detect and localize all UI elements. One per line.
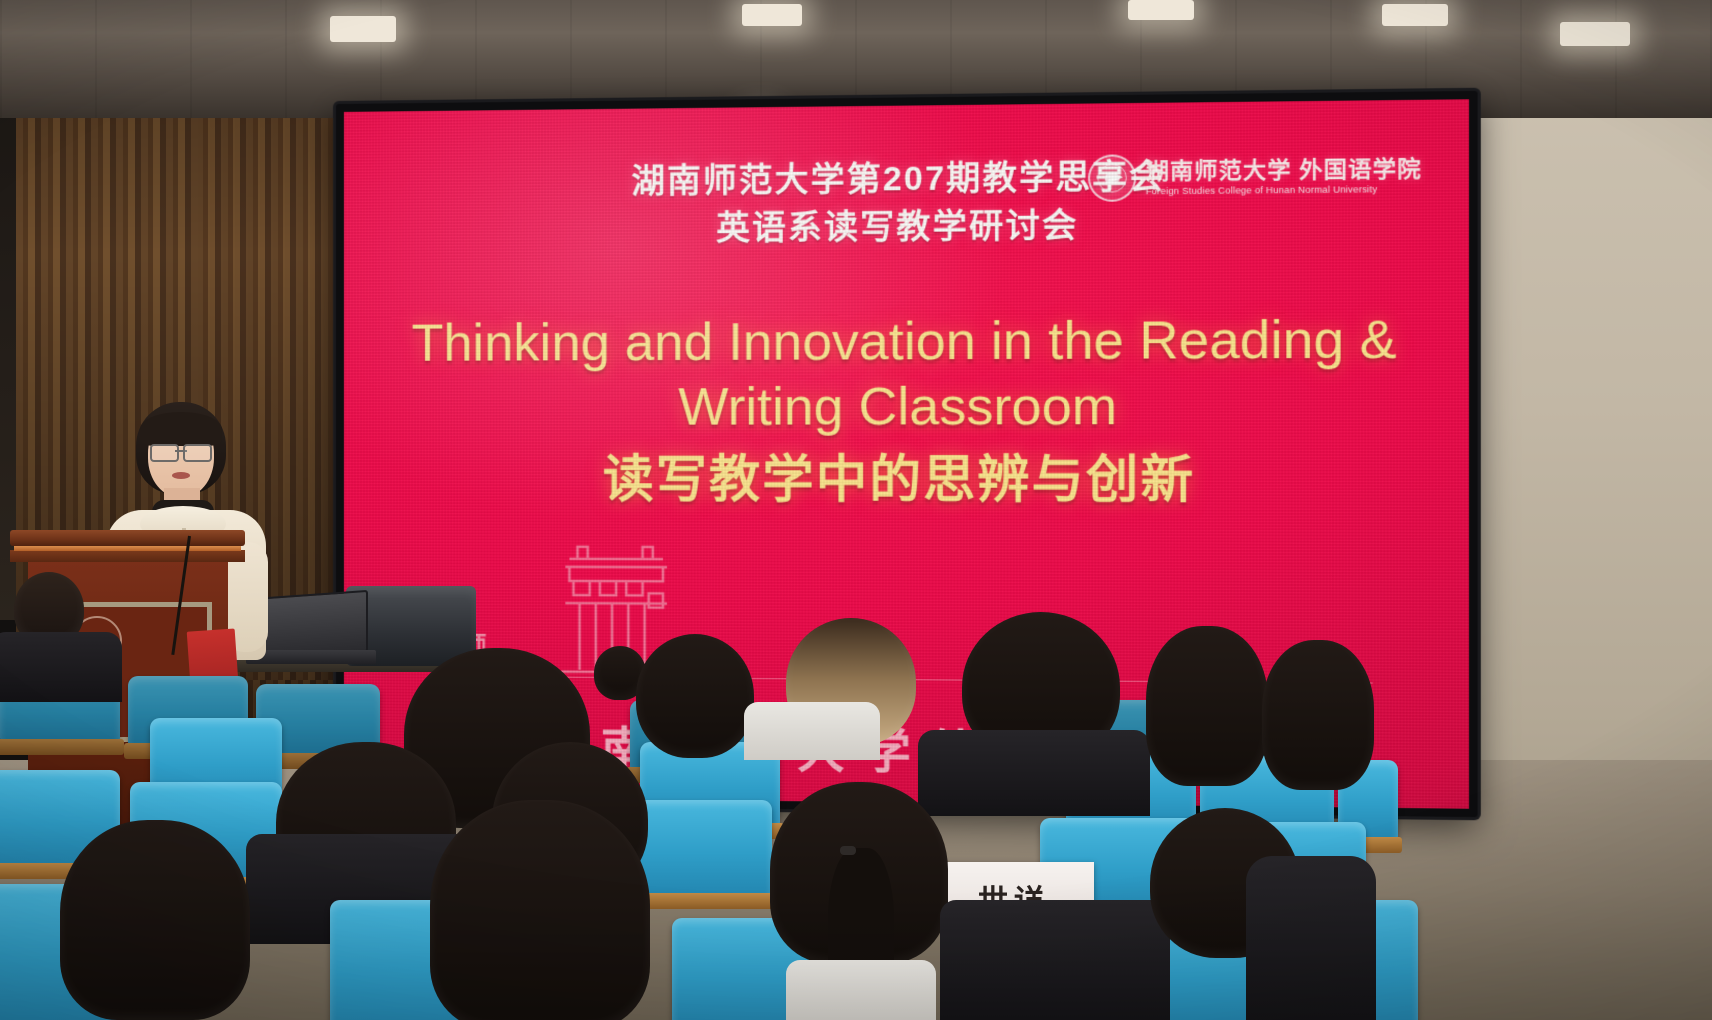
ceiling-light	[742, 4, 802, 26]
lectern-lip	[10, 550, 245, 562]
glasses-icon	[150, 444, 212, 459]
slide-title-block: Thinking and Innovation in the Reading &…	[404, 307, 1405, 514]
lectern-top	[10, 530, 245, 546]
logo-english-name: Foreign Studies College of Hunan Normal …	[1146, 184, 1422, 196]
slide-title-en-line2: Writing Classroom	[404, 373, 1405, 440]
logo-chinese-name: 湖南师范大学 外国语学院	[1146, 157, 1422, 182]
presenter-mouth	[172, 472, 190, 479]
audience-head	[636, 634, 754, 758]
presenter-fringe	[140, 412, 222, 446]
college-logo: 湖南师范大学 外国语学院 Foreign Studies College of …	[1088, 152, 1422, 202]
slide-header-line2: 英语系读写教学研讨会	[344, 195, 1469, 258]
audience-head	[430, 800, 650, 1020]
audience-torso	[1246, 856, 1376, 1020]
ceiling-light	[330, 16, 396, 42]
ceiling-light	[1382, 4, 1448, 26]
audience-head	[1146, 626, 1268, 786]
audience-torso	[786, 960, 936, 1020]
audience-torso	[918, 730, 1150, 816]
ceiling-light	[1128, 0, 1194, 20]
audience-head	[1262, 640, 1374, 790]
audience-torso	[0, 632, 122, 702]
slide-title-cn: 读写教学中的思辨与创新	[404, 446, 1405, 514]
hair-tie	[840, 846, 856, 855]
university-seal-icon	[1088, 154, 1136, 202]
logo-text-group: 湖南师范大学 外国语学院 Foreign Studies College of …	[1146, 157, 1422, 196]
slide-title-en-line1: Thinking and Innovation in the Reading &	[404, 307, 1405, 376]
lecture-hall-photo: 湖南师范大学第207期教学思享会 英语系读写教学研讨会 湖南师范大学 外国语学院…	[0, 0, 1712, 1020]
audience-head	[60, 820, 250, 1020]
audience-torso	[940, 900, 1170, 1020]
ceiling-light	[1560, 22, 1630, 46]
audience-torso	[744, 702, 880, 760]
